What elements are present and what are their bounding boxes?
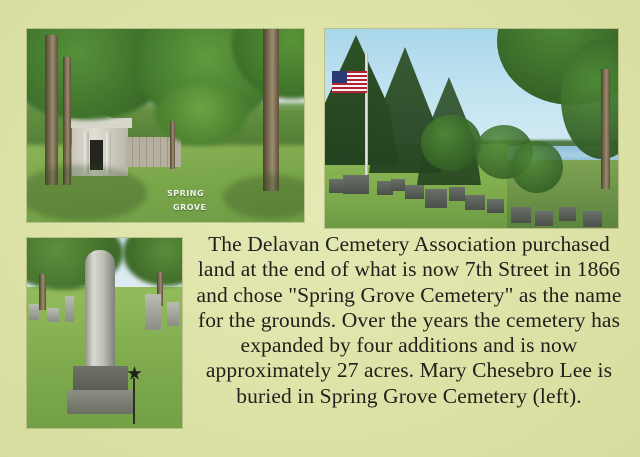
background-headstone-5 xyxy=(167,302,179,326)
headstone xyxy=(405,185,424,199)
photo-mausoleum: SPRING GROVE xyxy=(27,29,304,222)
headstone xyxy=(511,207,531,223)
ground-letters-line-2: GROVE xyxy=(173,203,206,212)
headstone xyxy=(583,211,602,227)
headstone xyxy=(343,175,369,194)
monument-plinth xyxy=(67,390,135,414)
body-text: The Delavan Cemetery Association purchas… xyxy=(190,232,628,409)
headstone xyxy=(535,211,553,226)
tree-trunk-left xyxy=(39,274,46,310)
background-headstone-2 xyxy=(47,308,59,322)
photo-lake-overlook xyxy=(325,29,618,228)
ground-letters-line-1: SPRING xyxy=(167,189,204,198)
gar-marker-rod xyxy=(133,378,135,424)
headstone xyxy=(449,187,465,201)
tree-trunk-left xyxy=(45,35,58,185)
tree-trunk-center xyxy=(170,121,175,169)
background-headstone-3 xyxy=(65,296,74,322)
headstone xyxy=(559,207,576,221)
photo-monument xyxy=(27,238,182,428)
headstone xyxy=(425,189,447,208)
slide-canvas: SPRING GROVE xyxy=(0,0,640,457)
background-headstone-4 xyxy=(145,294,161,330)
american-flag xyxy=(332,71,367,93)
headstone xyxy=(391,179,405,191)
tree-trunk-right xyxy=(263,29,279,191)
obelisk-monument xyxy=(85,250,115,372)
mid-tree-3 xyxy=(511,141,563,193)
headstone xyxy=(465,195,485,210)
tree-trunk-right xyxy=(601,69,610,189)
background-headstone-1 xyxy=(29,304,39,320)
tree-canopy-mid xyxy=(155,83,247,145)
mid-tree-1 xyxy=(421,115,481,171)
headstone xyxy=(487,199,504,213)
flag-canton xyxy=(332,71,347,83)
